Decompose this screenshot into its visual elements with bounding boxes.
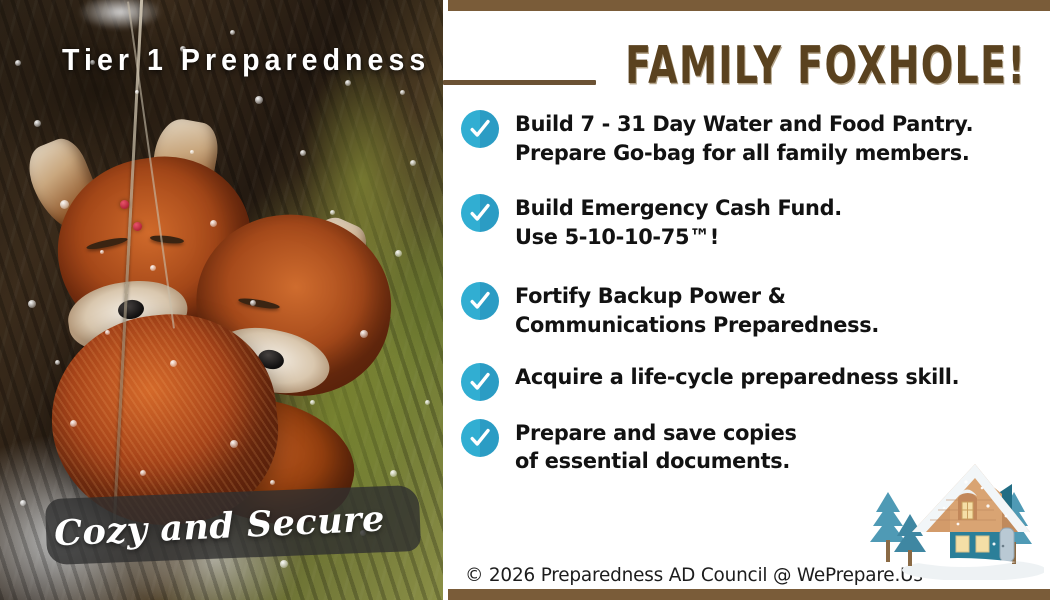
border-top	[448, 0, 1050, 11]
berry-icon	[120, 200, 129, 209]
checklist-line: Acquire a life-cycle preparedness skill.	[515, 364, 959, 393]
check-circle-icon[interactable]	[461, 419, 499, 457]
infographic-card: Tier 1 Preparedness Cozy and Secure FAMI…	[0, 0, 1050, 600]
checklist-item[interactable]: Build 7 - 31 Day Water and Food Pantry.P…	[461, 110, 1050, 168]
checklist-line: Use 5-10-10-75™!	[515, 224, 842, 253]
border-bottom	[448, 589, 1050, 600]
checklist-item-text: Acquire a life-cycle preparedness skill.	[515, 363, 973, 393]
checklist-item[interactable]: Fortify Backup Power &Communications Pre…	[461, 282, 1050, 340]
checklist-item-text: Build 7 - 31 Day Water and Food Pantry.P…	[515, 110, 987, 168]
fox-photo-panel: Tier 1 Preparedness Cozy and Secure	[0, 0, 443, 600]
check-circle-icon[interactable]	[461, 194, 499, 232]
checklist-line: Prepare Go-bag for all family members.	[515, 140, 973, 169]
checklist-item-text: Prepare and save copiesof essential docu…	[515, 419, 805, 477]
check-circle-icon[interactable]	[461, 363, 499, 401]
checklist-item[interactable]: Build Emergency Cash Fund.Use 5-10-10-75…	[461, 194, 1050, 252]
title-rule	[443, 80, 596, 85]
checklist-item-text: Build Emergency Cash Fund.Use 5-10-10-75…	[515, 194, 852, 252]
checklist-item-text: Fortify Backup Power &Communications Pre…	[515, 282, 890, 340]
check-circle-icon[interactable]	[461, 282, 499, 320]
checklist-line: Communications Preparedness.	[515, 312, 879, 341]
checklist-line: of essential documents.	[515, 448, 797, 477]
brand-title: FAMILY FOXHOLE!	[625, 36, 1026, 96]
checklist-item[interactable]: Acquire a life-cycle preparedness skill.	[461, 363, 1050, 401]
content-panel: FAMILY FOXHOLE! Build 7 - 31 Day Water a…	[443, 0, 1050, 600]
checklist: Build 7 - 31 Day Water and Food Pantry.P…	[461, 110, 1050, 477]
winter-cabin-icon	[854, 458, 1044, 580]
photo-overlay-title: Tier 1 Preparedness	[62, 42, 430, 78]
checklist-line: Build 7 - 31 Day Water and Food Pantry.	[515, 111, 973, 140]
berry-icon	[133, 222, 142, 231]
check-circle-icon[interactable]	[461, 110, 499, 148]
checklist-line: Build Emergency Cash Fund.	[515, 195, 842, 224]
header-row: FAMILY FOXHOLE!	[443, 34, 1050, 96]
checklist-line: Prepare and save copies	[515, 420, 797, 449]
checklist-line: Fortify Backup Power &	[515, 283, 879, 312]
